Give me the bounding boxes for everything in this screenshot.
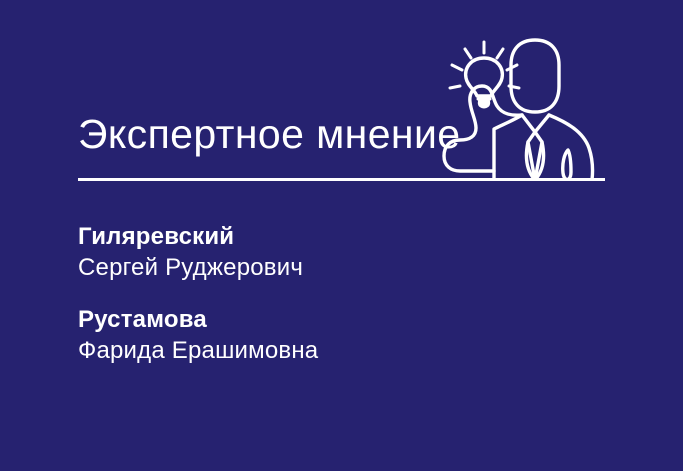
expert-given-name: Фарида Ерашимовна — [78, 336, 598, 366]
shirt-pocket-icon — [563, 150, 571, 180]
title-divider — [78, 178, 605, 181]
necktie-icon — [522, 115, 549, 180]
list-item: Гиляревский Сергей Руджерович — [78, 222, 598, 283]
list-item: Рустамова Фарида Ерашимовна — [78, 305, 598, 366]
expert-given-name: Сергей Руджерович — [78, 253, 598, 283]
person-head-icon — [511, 40, 559, 112]
expert-surname: Гиляревский — [78, 222, 598, 251]
expert-idea-illustration — [440, 28, 620, 180]
expert-surname: Рустамова — [78, 305, 598, 334]
idea-rays-icon — [450, 42, 519, 88]
page-title: Экспертное мнение — [78, 112, 460, 158]
expert-opinion-slide: Экспертное мнение Гиляревский Сергей Руд… — [0, 0, 683, 471]
expert-list: Гиляревский Сергей Руджерович Рустамова … — [78, 222, 598, 366]
